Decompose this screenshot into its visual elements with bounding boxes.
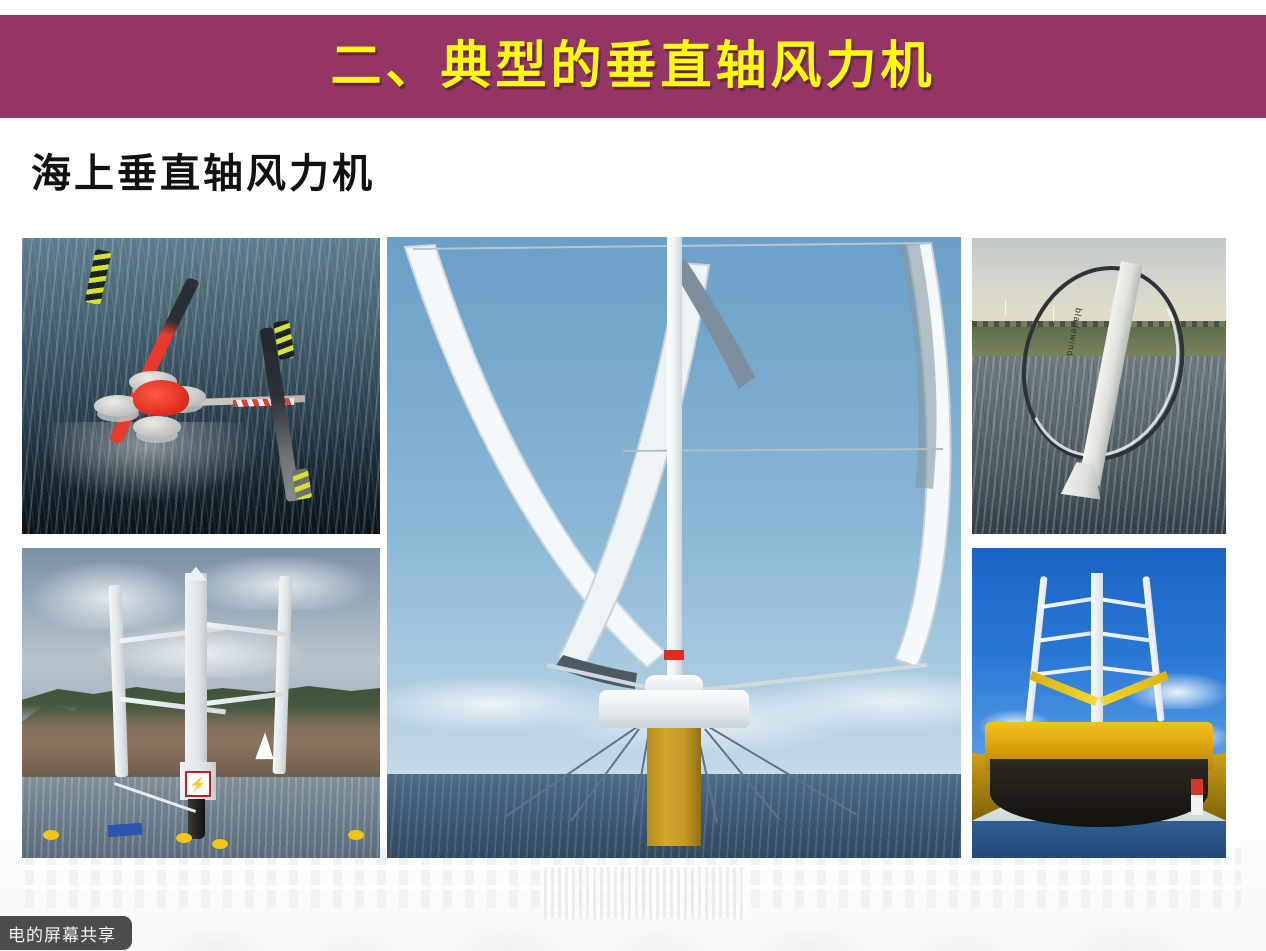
photo-coastal-h-rotor: ⚡ — [22, 548, 380, 858]
photo-tilted-ring-vawt: bladewind — [972, 238, 1226, 534]
slide-subtitle: 海上垂直轴风力机 — [31, 141, 375, 199]
slide-title-band: 二、典型的垂直轴风力机 — [0, 15, 1266, 118]
screen-share-badge[interactable]: 电的屏幕共享 — [0, 916, 132, 950]
screen-share-label: 电的屏幕共享 — [8, 921, 116, 946]
electrical-hazard-icon: ⚡ — [185, 771, 211, 797]
photo-platform-launch — [972, 548, 1226, 858]
presentation-slide: 二、典型的垂直轴风力机 海上垂直轴风力机 — [0, 0, 1266, 951]
slide-title: 二、典型的垂直轴风力机 — [330, 41, 935, 92]
photo-offshore-floating-vawt — [22, 238, 380, 534]
photo-vawt-render — [387, 237, 961, 858]
